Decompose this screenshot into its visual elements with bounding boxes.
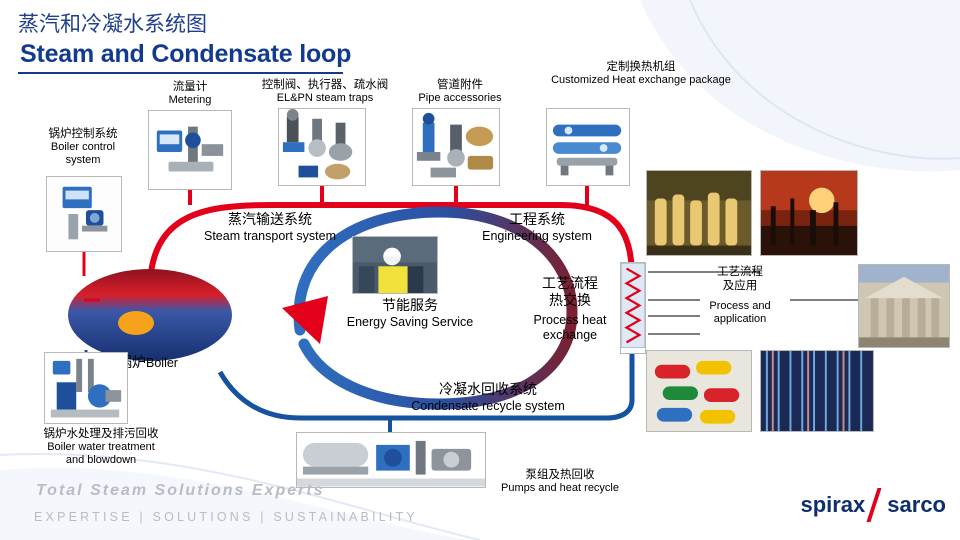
energy-saving-label: 节能服务 Energy Saving Service: [320, 298, 500, 329]
boiler-label: 锅炉Boiler: [118, 354, 238, 373]
condensate-label: 冷凝水回收系统 Condensate recycle system: [398, 382, 578, 413]
boiler-water-photo: [44, 352, 128, 424]
bottling-line-photo: [646, 170, 752, 256]
metering-label: 流量计 Metering: [148, 80, 232, 107]
process-application-label: 工艺流程 及应用 Process and application: [688, 265, 792, 326]
pharma-capsules-photo: [646, 350, 752, 432]
footer-tagline: Total Steam Solutions Experts: [36, 482, 325, 500]
steam-traps-label: 控制阀、执行器、疏水阀 EL&PN steam traps: [258, 78, 392, 105]
boiler-control-label: 锅炉控制系统 Boiler control system: [18, 127, 148, 167]
boiler-water-label: 锅炉水处理及排污回收 Boiler water treatment and bl…: [16, 427, 186, 467]
page-title-cn: 蒸汽和冷凝水系统图: [18, 8, 207, 38]
heat-exchange-package-label: 定制换热机组 Customized Heat exchange package: [516, 60, 766, 87]
pipe-accessories-label: 管道附件 Pipe accessories: [404, 78, 516, 105]
page-title-en: Steam and Condensate loop: [20, 40, 351, 69]
steam-transport-label: 蒸汽输送系统 Steam transport system: [170, 212, 370, 243]
brand-logo-spirax: spirax: [800, 492, 865, 517]
engineering-label: 工程系统 Engineering system: [452, 212, 622, 243]
engineer-photo: [352, 236, 438, 294]
textile-fiber-photo: [760, 350, 874, 432]
metering-photo: [148, 110, 232, 190]
steam-traps-photo: [278, 108, 366, 186]
process-heat-label: 工艺流程 热交换 Process heat exchange: [520, 276, 620, 343]
brand-logo-sarco: sarco: [887, 492, 946, 517]
refinery-sunset-photo: [760, 170, 858, 256]
heat-exchanger-coil: [620, 262, 646, 354]
boiler-control-photo: [46, 176, 122, 252]
condensate-pump-set-photo: [296, 432, 486, 488]
title-underline: [18, 72, 343, 74]
heat-exchange-package-photo: [546, 108, 630, 186]
pipe-accessories-photo: [412, 108, 500, 186]
footer-keywords: EXPERTISE | SOLUTIONS | SUSTAINABILITY: [34, 510, 418, 524]
pumps-label: 泵组及热回收 Pumps and heat recycle: [470, 468, 650, 495]
building-facade-photo: [858, 264, 950, 348]
